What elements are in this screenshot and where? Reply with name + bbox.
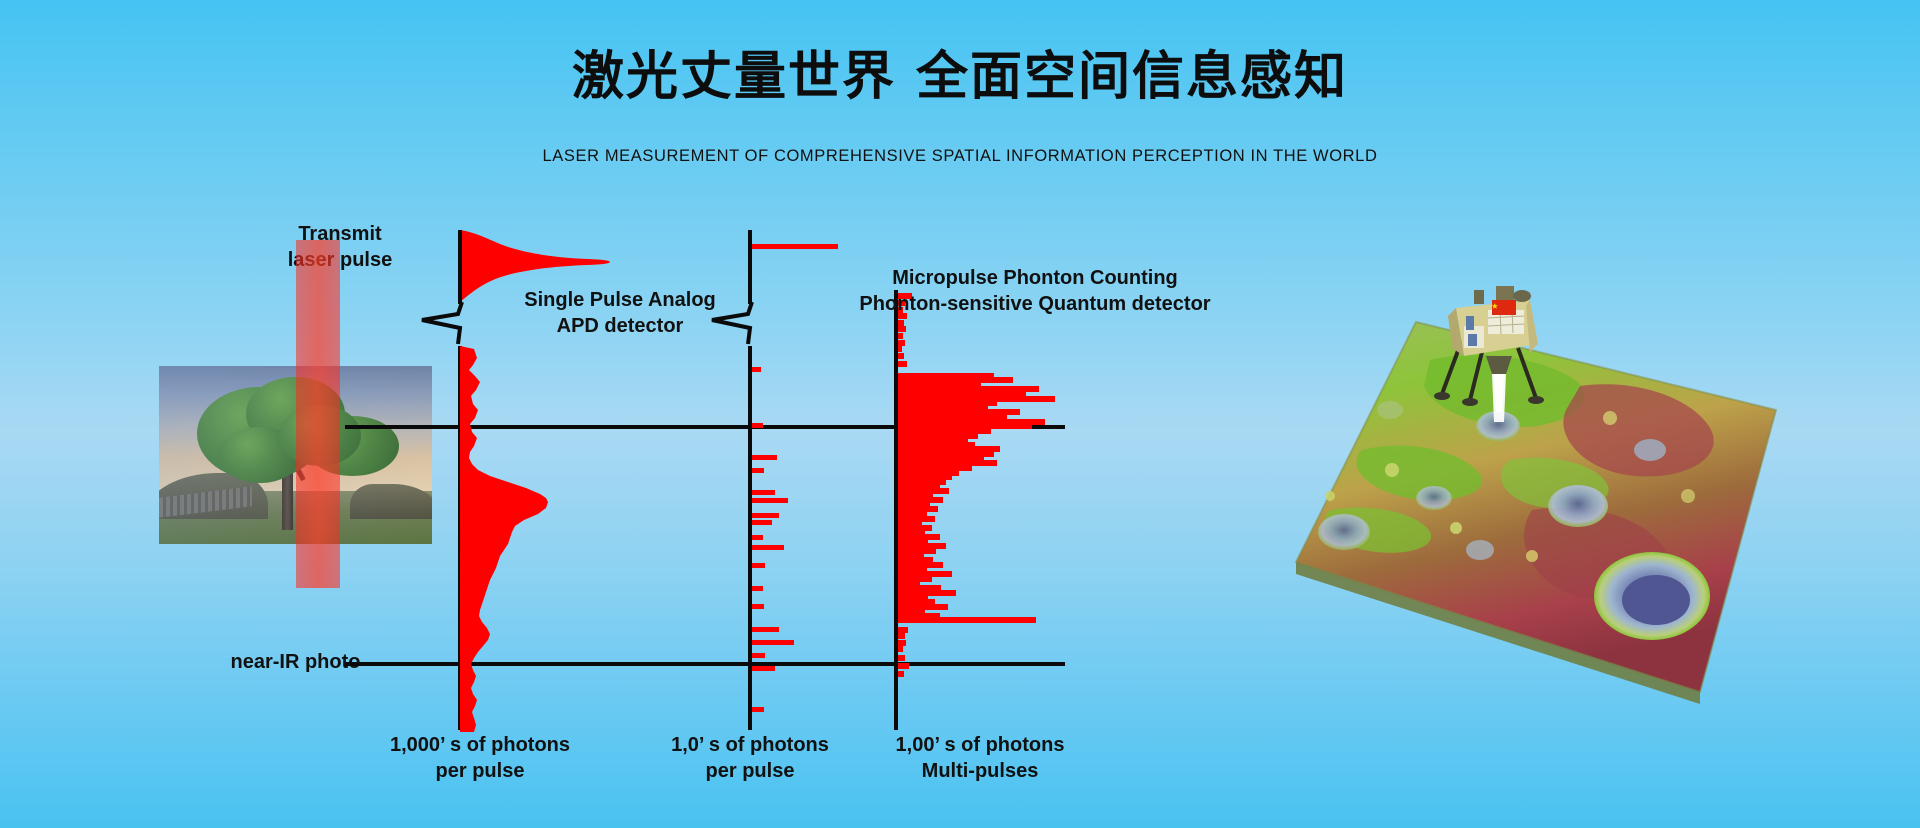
caption-analog-line2: per pulse <box>360 759 600 785</box>
detector-label-micropulse-line1: Micropulse Phonton Counting <box>815 266 1255 292</box>
photon-bar <box>752 604 764 609</box>
photon-bar <box>752 498 788 503</box>
photon-bar <box>898 627 908 633</box>
photon-bar <box>752 666 775 671</box>
plot1-vertical-axis-top <box>458 230 462 304</box>
analog-return-waveform <box>460 346 584 732</box>
caption-micropulse: 1,00’ s of photons Multi-pulses <box>860 733 1100 784</box>
photon-bar <box>898 671 904 677</box>
plot-micropulse-photon-counting <box>888 290 1098 730</box>
photon-bar <box>752 455 777 460</box>
photon-bar <box>898 320 904 326</box>
transmit-pulse-label-line1: Transmit <box>240 222 440 248</box>
photon-bar <box>898 633 905 639</box>
caption-sparse-line2: per pulse <box>630 759 870 785</box>
photon-bar <box>898 646 903 652</box>
photon-bar <box>898 361 907 367</box>
photon-bar <box>898 663 909 669</box>
photon-bar <box>752 468 764 473</box>
photon-bar <box>898 340 905 346</box>
photon-bar <box>752 520 772 525</box>
photon-bar <box>752 423 763 428</box>
photon-bar <box>752 535 763 540</box>
photon-bar <box>752 640 794 645</box>
photon-bar <box>752 707 764 712</box>
photon-bar <box>752 244 838 249</box>
photon-bar <box>898 655 905 661</box>
axis-break-left <box>410 300 466 348</box>
infographic-canvas: 激光丈量世界 全面空间信息感知 LASER MEASUREMENT OF COM… <box>0 0 1920 828</box>
photon-bar <box>752 490 775 495</box>
photon-bar <box>752 563 765 568</box>
photon-bar <box>752 586 763 591</box>
micropulse-photon-bars <box>898 290 1088 730</box>
photon-bar <box>898 346 902 352</box>
detector-label-analog-line2: APD detector <box>470 314 770 340</box>
photon-bar <box>752 627 779 632</box>
lunar-lander <box>1434 282 1554 412</box>
caption-micropulse-line2: Multi-pulses <box>860 759 1100 785</box>
laser-beam-column <box>296 240 340 588</box>
page-subtitle: LASER MEASUREMENT OF COMPREHENSIVE SPATI… <box>0 147 1920 166</box>
photon-bar <box>752 367 761 372</box>
page-title: 激光丈量世界 全面空间信息感知 <box>0 48 1920 108</box>
detector-label-analog: Single Pulse Analog APD detector <box>470 288 770 339</box>
photon-bar <box>752 545 784 550</box>
photon-bar <box>752 513 779 518</box>
photon-bar <box>898 333 903 339</box>
transmit-pulse-label-line2: laser pulse <box>240 248 440 274</box>
caption-micropulse-line1: 1,00’ s of photons <box>860 733 1100 759</box>
photon-bar <box>898 326 906 332</box>
caption-sparse-line1: 1,0’ s of photons <box>630 733 870 759</box>
lander-svg <box>1434 282 1564 422</box>
caption-analog-line1: 1,000’ s of photons <box>360 733 600 759</box>
photon-bar <box>752 653 765 658</box>
transmit-pulse-label: Transmit laser pulse <box>240 222 440 273</box>
caption-sparse: 1,0’ s of photons per pulse <box>630 733 870 784</box>
photon-bar <box>898 353 904 359</box>
photon-bar <box>898 640 906 646</box>
detector-label-analog-line1: Single Pulse Analog <box>470 288 770 314</box>
caption-analog: 1,000’ s of photons per pulse <box>360 733 600 784</box>
photon-bar <box>898 617 1036 623</box>
